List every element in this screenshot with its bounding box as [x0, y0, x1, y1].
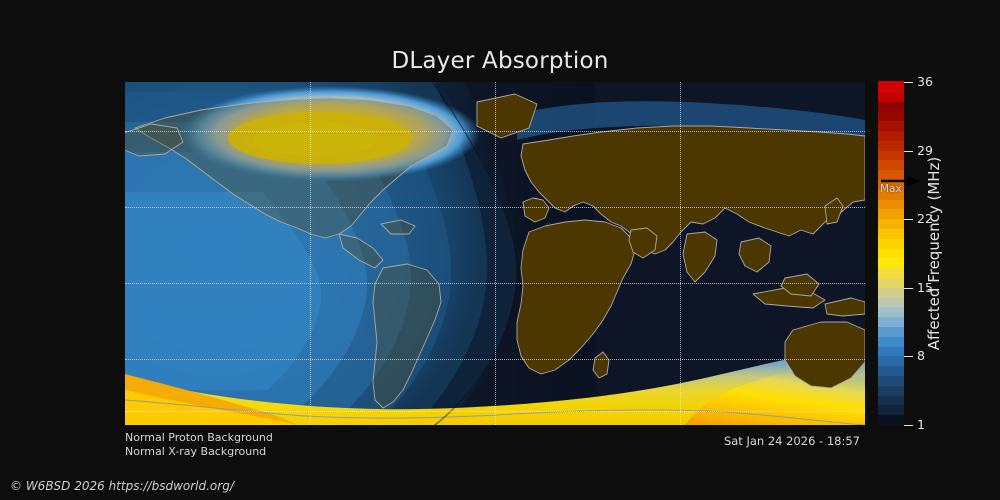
colorbar-band [878, 81, 904, 91]
credit-label: © W6BSD 2026 https://bsdworld.org/ [10, 479, 234, 493]
xray-background-note: Normal X-ray Background [125, 445, 266, 458]
colorbar-band [878, 307, 904, 317]
colorbar-band [878, 91, 904, 101]
colorbar-band [878, 277, 904, 287]
colorbar-band [878, 238, 904, 248]
colorbar-band [878, 405, 904, 415]
colorbar-tick [904, 219, 913, 220]
colorbar-band [878, 150, 904, 160]
colorbar-tick [904, 425, 913, 426]
colorbar-band [878, 317, 904, 327]
colorbar-band [878, 258, 904, 268]
colorbar-gradient [878, 82, 904, 425]
colorbar-band [878, 415, 904, 425]
colorbar-max-marker: Max [878, 174, 922, 196]
colorbar-band [878, 287, 904, 297]
colorbar-band [878, 199, 904, 209]
colorbar-band [878, 111, 904, 121]
colorbar-band [878, 160, 904, 170]
colorbar-band [878, 121, 904, 131]
timestamp-label: Sat Jan 24 2026 - 18:57 [724, 434, 860, 448]
world-map[interactable] [125, 82, 865, 425]
colorbar-band [878, 375, 904, 385]
page-title: DLayer Absorption [0, 48, 1000, 74]
colorbar-band [878, 326, 904, 336]
colorbar-band [878, 130, 904, 140]
colorbar-max-label: Max [880, 184, 902, 195]
colorbar-axis-label: Affected Frequency (MHz) [922, 82, 946, 425]
colorbar-tick [904, 151, 913, 152]
colorbar-band [878, 248, 904, 258]
colorbar-band [878, 228, 904, 238]
dlayer-absorption-page: DLayer Absorption [0, 0, 1000, 500]
colorbar-band [878, 395, 904, 405]
colorbar[interactable]: 1815222936 Max [878, 82, 904, 425]
colorbar-tick [904, 82, 913, 83]
map-canvas [125, 82, 865, 425]
colorbar-band [878, 356, 904, 366]
colorbar-band [878, 385, 904, 395]
colorbar-band [878, 101, 904, 111]
colorbar-tick [904, 288, 913, 289]
proton-background-note: Normal Proton Background [125, 431, 273, 444]
colorbar-band [878, 297, 904, 307]
colorbar-band [878, 209, 904, 219]
colorbar-band [878, 346, 904, 356]
colorbar-band [878, 219, 904, 229]
colorbar-tick [904, 356, 913, 357]
colorbar-band [878, 140, 904, 150]
colorbar-band [878, 336, 904, 346]
colorbar-band [878, 268, 904, 278]
colorbar-band [878, 366, 904, 376]
